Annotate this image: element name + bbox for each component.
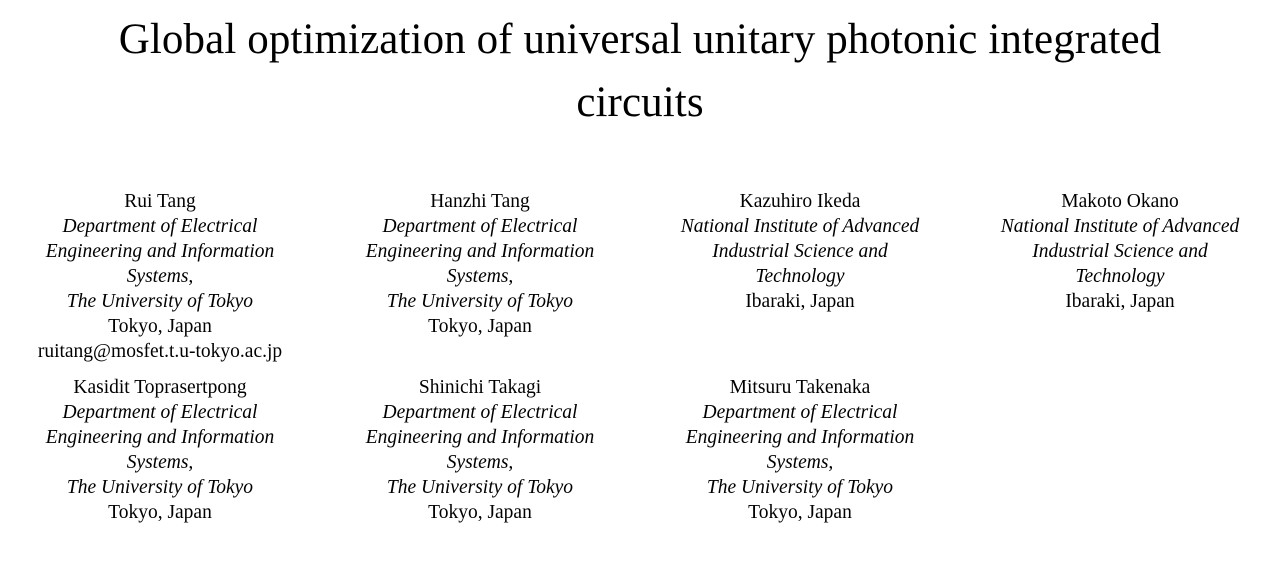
author-name: Kasidit Toprasertpong <box>28 375 292 400</box>
affiliation-line: The University of Tokyo <box>668 475 932 500</box>
author-block-rui-tang: Rui Tang Department of Electrical Engine… <box>0 189 320 364</box>
affiliation-line: The University of Tokyo <box>28 289 292 314</box>
author-block-shinichi-takagi: Shinichi Takagi Department of Electrical… <box>320 375 640 525</box>
affiliation-line: Systems, <box>348 450 612 475</box>
affiliation-line: The University of Tokyo <box>348 475 612 500</box>
affiliation-line: Engineering and Information <box>28 239 292 264</box>
affiliation-line: Systems, <box>348 264 612 289</box>
author-location: Ibaraki, Japan <box>988 289 1252 314</box>
affiliation-line: Systems, <box>28 264 292 289</box>
author-block-mitsuru-takenaka: Mitsuru Takenaka Department of Electrica… <box>640 375 960 525</box>
affiliation-line: Department of Electrical <box>28 400 292 425</box>
affiliation-line: Engineering and Information <box>28 425 292 450</box>
affiliation-line: Systems, <box>668 450 932 475</box>
author-block-makoto-okano: Makoto Okano National Institute of Advan… <box>960 189 1280 314</box>
author-location: Tokyo, Japan <box>28 500 292 525</box>
author-name: Mitsuru Takenaka <box>668 375 932 400</box>
author-name: Hanzhi Tang <box>348 189 612 214</box>
affiliation-line: National Institute of Advanced <box>988 214 1252 239</box>
affiliation-line: Industrial Science and <box>988 239 1252 264</box>
author-row-2: Kasidit Toprasertpong Department of Elec… <box>0 375 1280 525</box>
title-block: Global optimization of universal unitary… <box>50 0 1230 134</box>
affiliation-line: Department of Electrical <box>348 400 612 425</box>
author-block-kasidit-toprasertpong: Kasidit Toprasertpong Department of Elec… <box>0 375 320 525</box>
affiliation-line: Industrial Science and <box>668 239 932 264</box>
paper-title-line-1: Global optimization of universal unitary… <box>119 16 978 63</box>
author-block-hanzhi-tang: Hanzhi Tang Department of Electrical Eng… <box>320 189 640 339</box>
affiliation-line: The University of Tokyo <box>28 475 292 500</box>
paper-front-matter-page: Global optimization of universal unitary… <box>0 0 1280 582</box>
author-location: Tokyo, Japan <box>668 500 932 525</box>
affiliation-line: Engineering and Information <box>348 425 612 450</box>
author-name: Rui Tang <box>28 189 292 214</box>
author-name: Makoto Okano <box>988 189 1252 214</box>
affiliation-line: The University of Tokyo <box>348 289 612 314</box>
affiliation-line: Technology <box>988 264 1252 289</box>
author-email[interactable]: ruitang@mosfet.t.u-tokyo.ac.jp <box>28 339 292 364</box>
affiliation-line: Systems, <box>28 450 292 475</box>
author-list: Rui Tang Department of Electrical Engine… <box>0 189 1280 525</box>
author-location: Tokyo, Japan <box>28 314 292 339</box>
affiliation-line: Engineering and Information <box>668 425 932 450</box>
author-location: Tokyo, Japan <box>348 314 612 339</box>
affiliation-line: Department of Electrical <box>348 214 612 239</box>
author-location: Ibaraki, Japan <box>668 289 932 314</box>
affiliation-line: Technology <box>668 264 932 289</box>
author-block-kazuhiro-ikeda: Kazuhiro Ikeda National Institute of Adv… <box>640 189 960 314</box>
author-name: Shinichi Takagi <box>348 375 612 400</box>
affiliation-line: Department of Electrical <box>28 214 292 239</box>
affiliation-line: National Institute of Advanced <box>668 214 932 239</box>
author-name: Kazuhiro Ikeda <box>668 189 932 214</box>
page-title: Global optimization of universal unitary… <box>50 8 1230 134</box>
author-location: Tokyo, Japan <box>348 500 612 525</box>
author-row-1: Rui Tang Department of Electrical Engine… <box>0 189 1280 364</box>
affiliation-line: Engineering and Information <box>348 239 612 264</box>
affiliation-line: Department of Electrical <box>668 400 932 425</box>
